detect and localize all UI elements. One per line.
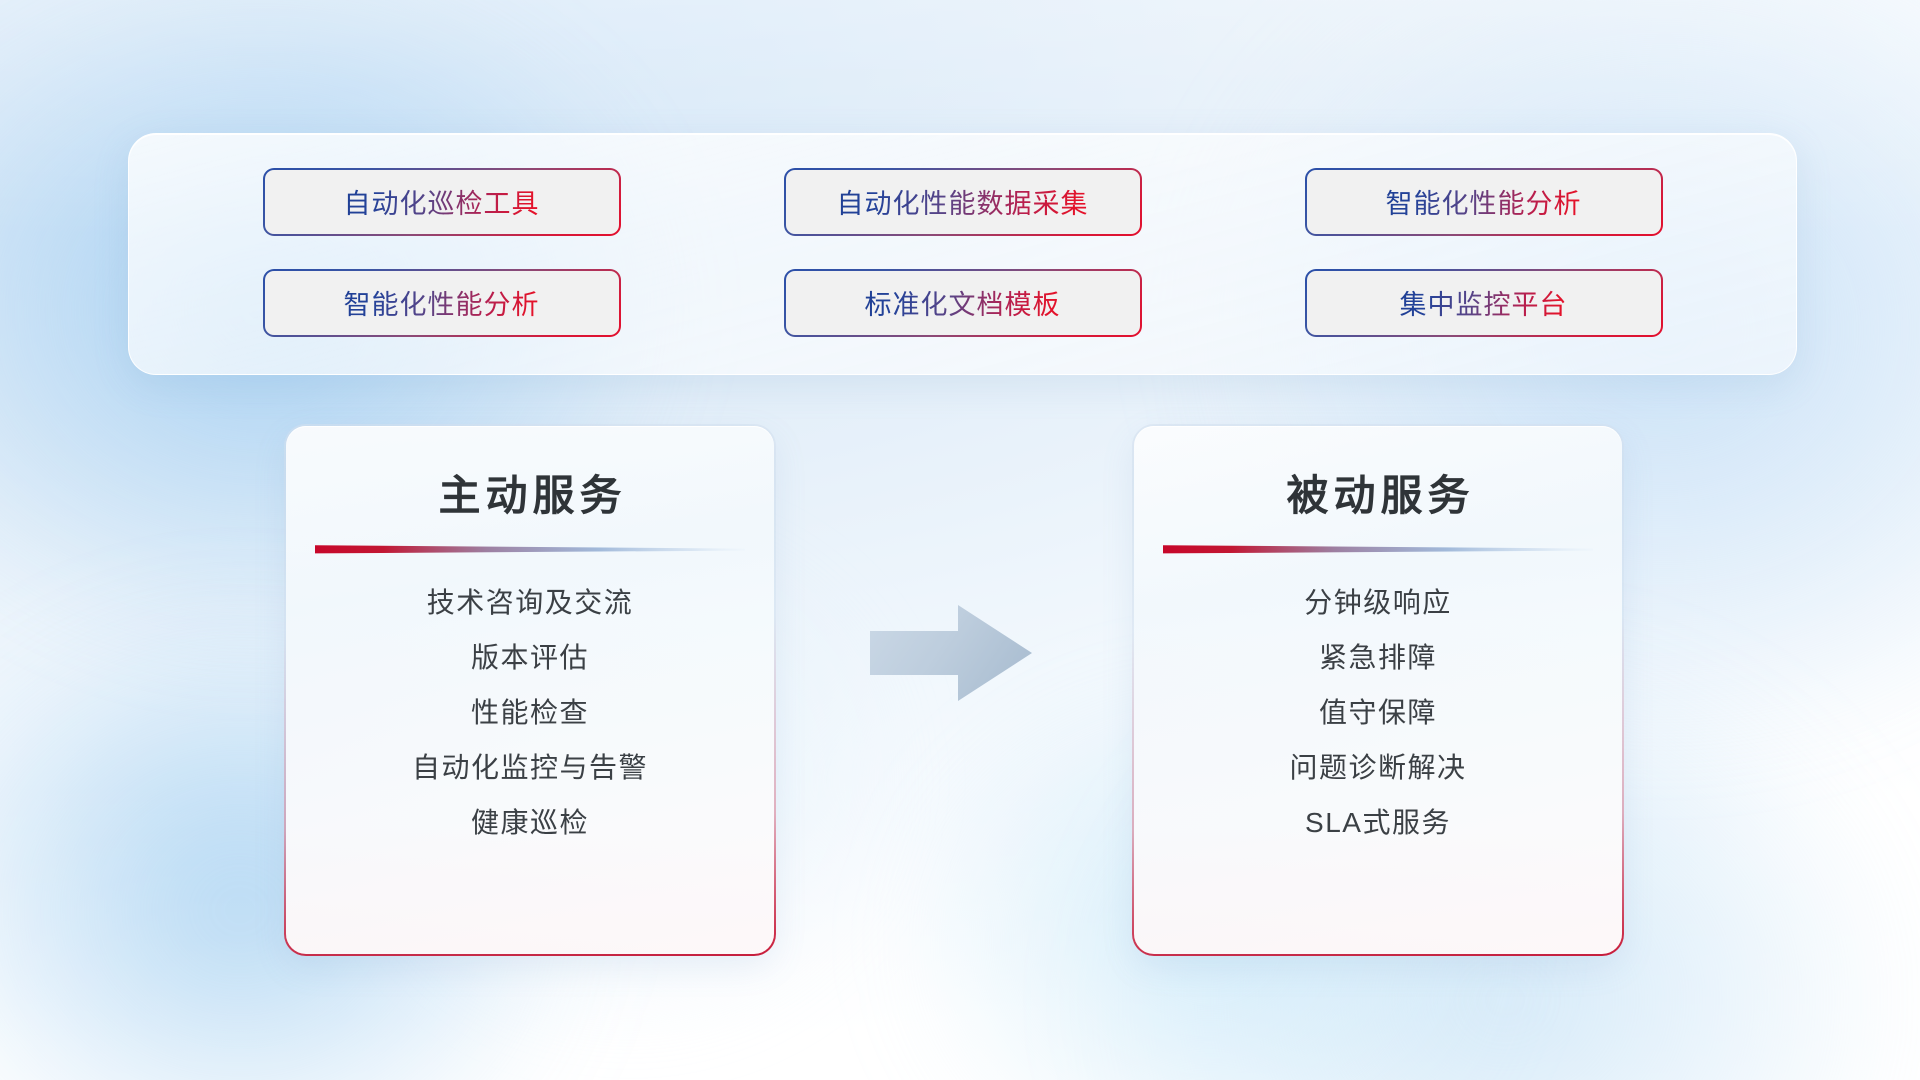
- right-arrow-icon: [866, 598, 1036, 708]
- capability-pill-label: 自动化巡检工具: [344, 182, 540, 221]
- list-item: SLA式服务: [1305, 802, 1451, 844]
- title-divider: [1163, 543, 1593, 554]
- capabilities-panel: 自动化巡检工具 自动化性能数据采集 智能化性能分析 智能化性能分析 标准化文档模…: [128, 133, 1797, 375]
- reactive-service-card: 被动服务 分钟级响应 紧急排障 值守保障: [1132, 424, 1624, 956]
- capability-pill-body: 标准化文档模板: [786, 271, 1140, 335]
- reactive-service-title: 被动服务: [1281, 462, 1474, 523]
- capability-pill-5[interactable]: 标准化文档模板: [784, 269, 1142, 337]
- capability-pill-2[interactable]: 自动化性能数据采集: [784, 168, 1142, 236]
- list-item: 紧急排障: [1319, 637, 1437, 679]
- list-item: 问题诊断解决: [1289, 747, 1466, 789]
- capability-pill-label: 自动化性能数据采集: [837, 182, 1089, 221]
- capability-pill-4[interactable]: 智能化性能分析: [263, 269, 621, 337]
- capability-pill-body: 智能化性能分析: [265, 271, 619, 335]
- list-item: 健康巡检: [471, 802, 589, 844]
- list-item: 值守保障: [1319, 692, 1437, 734]
- list-item: 性能检查: [471, 692, 589, 734]
- list-item: 分钟级响应: [1304, 582, 1452, 624]
- proactive-service-title: 主动服务: [433, 462, 626, 523]
- capability-pill-body: 自动化性能数据采集: [786, 170, 1140, 234]
- title-divider: [315, 543, 745, 554]
- capability-pill-label: 标准化文档模板: [865, 283, 1061, 322]
- capability-pill-6[interactable]: 集中监控平台: [1305, 269, 1663, 337]
- reactive-service-card-body: 被动服务 分钟级响应 紧急排障 值守保障: [1134, 426, 1622, 954]
- reactive-service-list: 分钟级响应 紧急排障 值守保障 问题诊断解决 SLA式服务: [1164, 582, 1592, 844]
- capability-pill-body: 智能化性能分析: [1307, 170, 1661, 234]
- capability-pill-body: 集中监控平台: [1307, 271, 1661, 335]
- list-item: 技术咨询及交流: [427, 582, 634, 624]
- capability-pill-label: 智能化性能分析: [1386, 182, 1582, 221]
- capability-pill-3[interactable]: 智能化性能分析: [1305, 168, 1663, 236]
- proactive-service-card: 主动服务 技术咨询及交流 版本评估 性能检查: [284, 424, 776, 956]
- proactive-service-list: 技术咨询及交流 版本评估 性能检查 自动化监控与告警 健康巡检: [316, 582, 744, 844]
- capability-pill-body: 自动化巡检工具: [265, 170, 619, 234]
- capability-pill-label: 集中监控平台: [1400, 283, 1568, 322]
- list-item: 版本评估: [471, 637, 589, 679]
- capability-pill-label: 智能化性能分析: [344, 283, 540, 322]
- list-item: 自动化监控与告警: [412, 747, 648, 789]
- proactive-service-card-body: 主动服务 技术咨询及交流 版本评估 性能检查: [286, 426, 774, 954]
- capability-pill-1[interactable]: 自动化巡检工具: [263, 168, 621, 236]
- capabilities-grid: 自动化巡检工具 自动化性能数据采集 智能化性能分析 智能化性能分析 标准化文档模…: [129, 134, 1796, 374]
